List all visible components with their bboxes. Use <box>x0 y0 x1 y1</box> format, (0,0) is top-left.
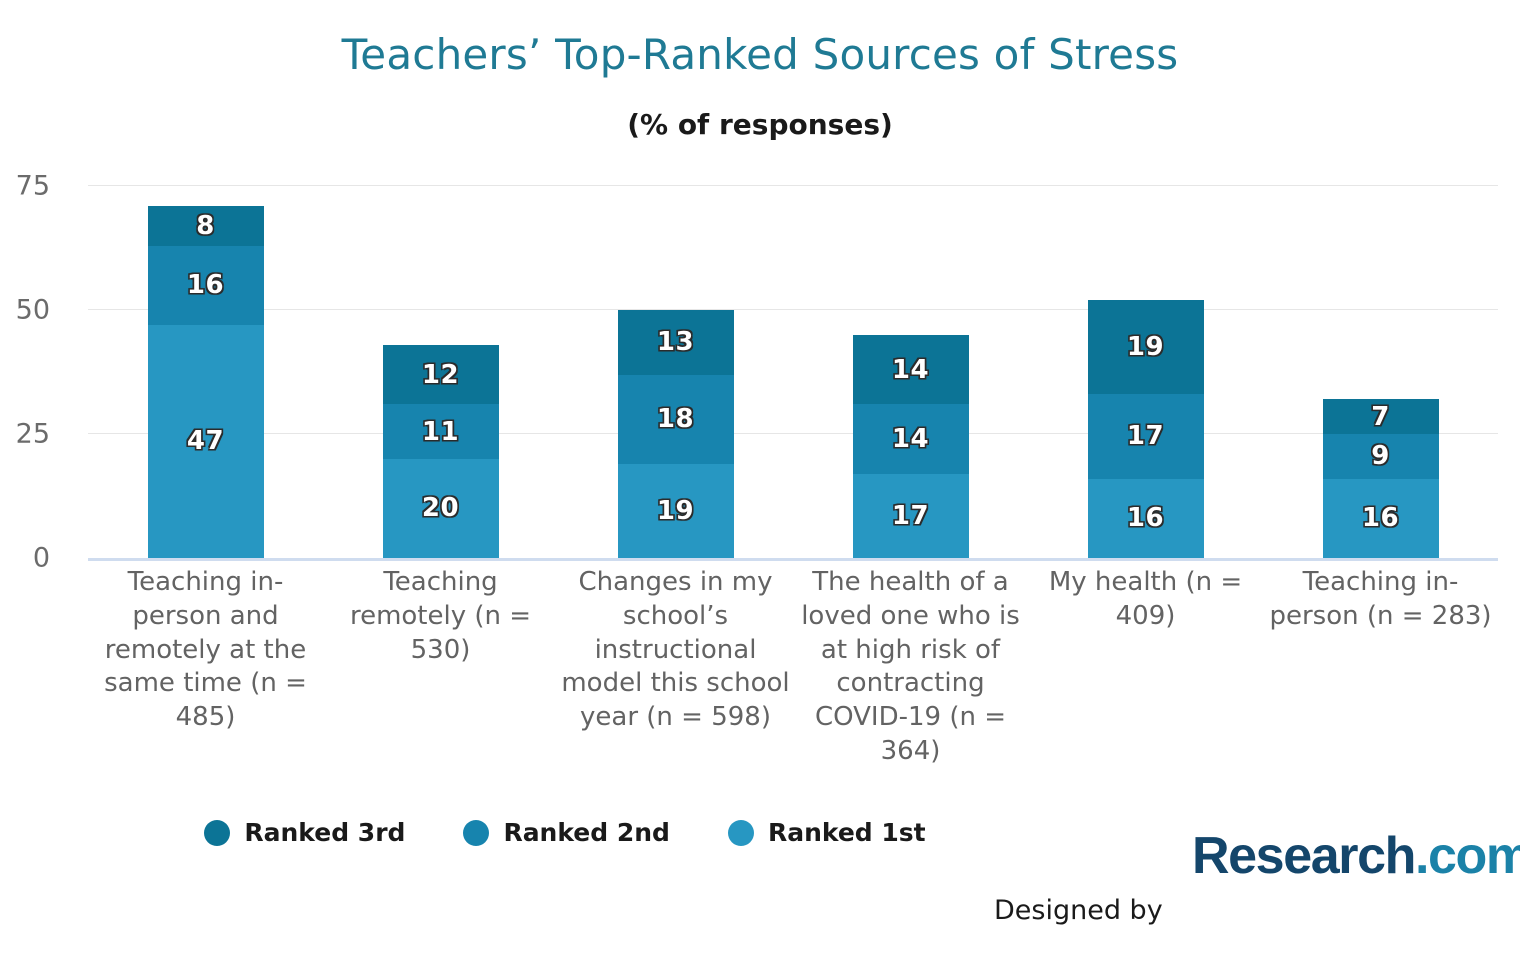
chart-subtitle: (% of responses) <box>0 108 1520 141</box>
chart-legend: Ranked 3rdRanked 2ndRanked 1st <box>0 818 1130 847</box>
bar-stack[interactable]: 7916 <box>1323 399 1439 558</box>
bar-value-label: 9 <box>1371 443 1390 469</box>
x-axis-category-labels: Teaching in-person and remotely at the s… <box>88 566 1498 796</box>
bar-segment[interactable]: 16 <box>148 246 264 325</box>
chart-container: Teachers’ Top-Ranked Sources of Stress (… <box>0 0 1520 970</box>
bar-value-label: 20 <box>422 495 459 521</box>
bar-value-label: 47 <box>187 428 224 454</box>
x-axis-category-label: The health of a loved one who is at high… <box>796 566 1026 769</box>
y-axis-tick-label: 0 <box>0 543 50 574</box>
bar-stack[interactable]: 191716 <box>1088 300 1204 558</box>
bar-segment[interactable]: 11 <box>383 404 499 459</box>
bar-value-label: 16 <box>187 272 224 298</box>
x-axis-category-label: My health (n = 409) <box>1031 566 1261 634</box>
bar-segment[interactable]: 17 <box>853 474 969 558</box>
bar-value-label: 17 <box>1127 423 1164 449</box>
bar-value-label: 12 <box>422 362 459 388</box>
y-axis-tick-label: 50 <box>0 295 50 326</box>
legend-swatch-icon <box>728 820 754 846</box>
gridline <box>88 433 1498 434</box>
gridline <box>88 185 1498 186</box>
bar-value-label: 17 <box>892 503 929 529</box>
bar-segment[interactable]: 13 <box>618 310 734 374</box>
bar-segment[interactable]: 9 <box>1323 434 1439 479</box>
x-axis-baseline <box>88 558 1498 561</box>
legend-item[interactable]: Ranked 1st <box>728 818 926 847</box>
y-axis-tick-label: 75 <box>0 171 50 202</box>
bar-segment[interactable]: 12 <box>383 345 499 405</box>
x-axis-category-label: Changes in my school’s instructional mod… <box>561 566 791 735</box>
legend-swatch-icon <box>463 820 489 846</box>
bar-segment[interactable]: 7 <box>1323 399 1439 434</box>
bar-segment[interactable]: 20 <box>383 459 499 558</box>
legend-label: Ranked 1st <box>768 818 926 847</box>
bar-segment[interactable]: 18 <box>618 375 734 464</box>
bar-segment[interactable]: 17 <box>1088 394 1204 478</box>
bar-value-label: 13 <box>657 329 694 355</box>
legend-item[interactable]: Ranked 3rd <box>204 818 405 847</box>
bar-value-label: 16 <box>1362 505 1399 531</box>
bar-segment[interactable]: 47 <box>148 325 264 558</box>
y-axis-tick-label: 25 <box>0 419 50 450</box>
bar-segment[interactable]: 14 <box>853 404 969 473</box>
bar-segment[interactable]: 14 <box>853 335 969 404</box>
legend-item[interactable]: Ranked 2nd <box>463 818 670 847</box>
x-axis-category-label: Teaching remotely (n = 530) <box>326 566 556 667</box>
bar-segment[interactable]: 16 <box>1088 479 1204 558</box>
logo-suffix-text: .com <box>1415 827 1520 885</box>
legend-label: Ranked 3rd <box>244 818 405 847</box>
bar-stack[interactable]: 141417 <box>853 335 969 558</box>
x-axis-category-label: Teaching in-person (n = 283) <box>1266 566 1496 634</box>
bar-value-label: 11 <box>422 419 459 445</box>
bar-value-label: 14 <box>892 357 929 383</box>
bar-value-label: 8 <box>196 213 215 239</box>
bar-value-label: 14 <box>892 426 929 452</box>
bar-value-label: 7 <box>1371 404 1390 430</box>
bar-stack[interactable]: 121120 <box>383 345 499 558</box>
legend-swatch-icon <box>204 820 230 846</box>
logo-primary-text: Research <box>1192 827 1415 885</box>
bar-segment[interactable]: 8 <box>148 206 264 246</box>
bar-value-label: 19 <box>1127 334 1164 360</box>
chart-title: Teachers’ Top-Ranked Sources of Stress <box>0 30 1520 79</box>
gridline <box>88 309 1498 310</box>
bar-value-label: 16 <box>1127 505 1164 531</box>
bar-segment[interactable]: 19 <box>618 464 734 558</box>
designed-by-text: Designed by <box>994 895 1163 926</box>
bar-stack[interactable]: 131819 <box>618 310 734 558</box>
research-dot-com-logo: Research.com <box>1192 826 1520 886</box>
plot-area: 816471211201318191414171917167916 <box>88 186 1498 558</box>
bar-value-label: 18 <box>657 406 694 432</box>
bar-segment[interactable]: 16 <box>1323 479 1439 558</box>
x-axis-category-label: Teaching in-person and remotely at the s… <box>91 566 321 735</box>
bar-stack[interactable]: 81647 <box>148 206 264 558</box>
bar-segment[interactable]: 19 <box>1088 300 1204 394</box>
legend-label: Ranked 2nd <box>503 818 670 847</box>
bar-value-label: 19 <box>657 498 694 524</box>
